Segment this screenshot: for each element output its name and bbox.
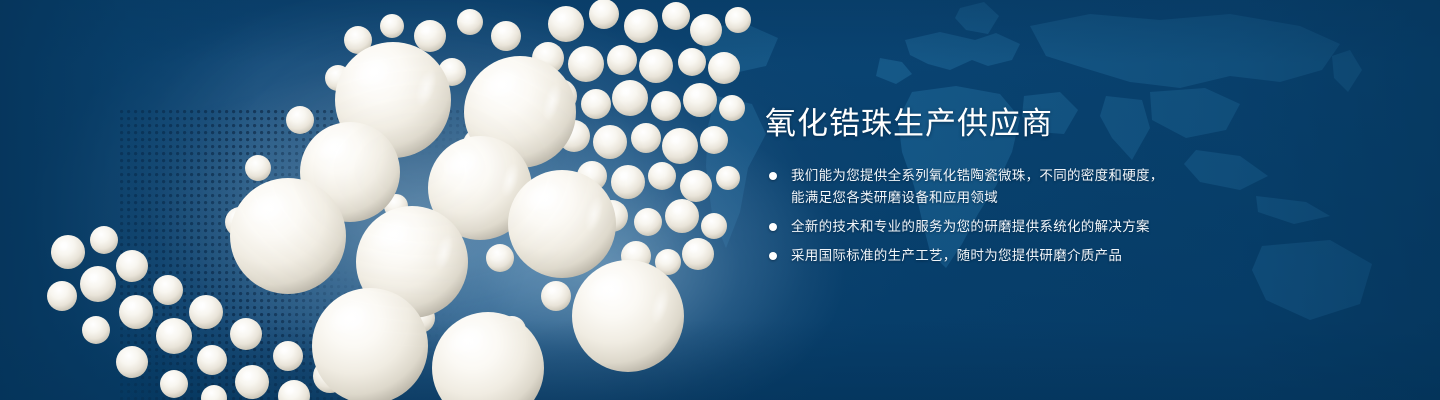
hero-banner: 氧化锆珠生产供应商 我们能为您提供全系列氧化锆陶瓷微珠，不同的密度和硬度， 能满… bbox=[0, 0, 1440, 400]
list-item: 我们能为您提供全系列氧化锆陶瓷微珠，不同的密度和硬度， 能满足您各类研磨设备和应… bbox=[765, 165, 1235, 209]
list-item-line-2: 能满足您各类研磨设备和应用领域 bbox=[791, 187, 1235, 209]
banner-copy: 氧化锆珠生产供应商 我们能为您提供全系列氧化锆陶瓷微珠，不同的密度和硬度， 能满… bbox=[765, 104, 1235, 267]
bullet-dot-icon bbox=[769, 252, 777, 260]
list-item-line-1: 采用国际标准的生产工艺，随时为您提供研磨介质产品 bbox=[791, 248, 1122, 263]
feature-list: 我们能为您提供全系列氧化锆陶瓷微珠，不同的密度和硬度， 能满足您各类研磨设备和应… bbox=[765, 165, 1235, 267]
bullet-dot-icon bbox=[769, 172, 777, 180]
page-title: 氧化锆珠生产供应商 bbox=[765, 104, 1235, 144]
zirconia-beads-image bbox=[0, 0, 760, 400]
list-item-line-1: 全新的技术和专业的服务为您的研磨提供系统化的解决方案 bbox=[791, 219, 1150, 234]
list-item-line-1: 我们能为您提供全系列氧化锆陶瓷微珠，不同的密度和硬度， bbox=[791, 168, 1164, 183]
list-item: 全新的技术和专业的服务为您的研磨提供系统化的解决方案 bbox=[765, 216, 1235, 238]
bullet-dot-icon bbox=[769, 223, 777, 231]
list-item: 采用国际标准的生产工艺，随时为您提供研磨介质产品 bbox=[765, 245, 1235, 267]
